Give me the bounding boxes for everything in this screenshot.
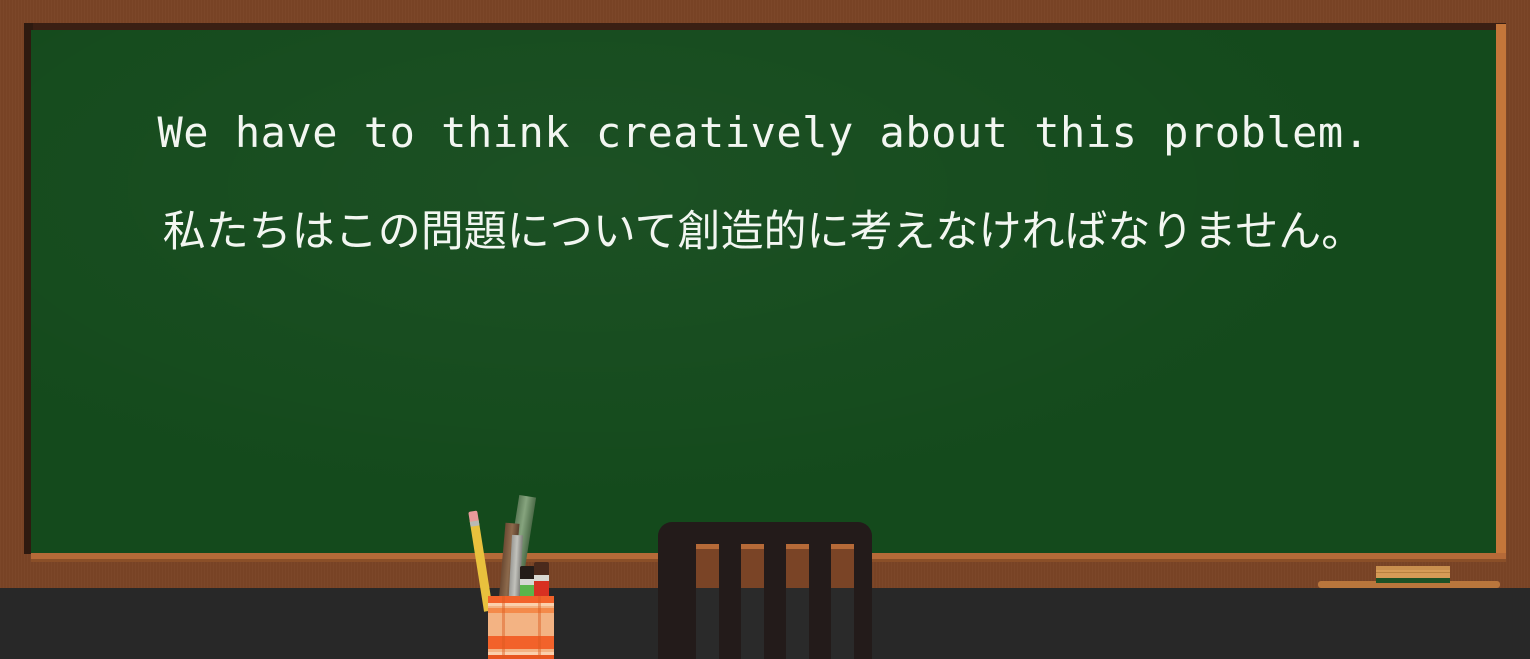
chair-slat-gap-2: [741, 544, 764, 659]
classroom-scene: We have to think creatively about this p…: [0, 0, 1530, 659]
pencil-cup-group: [470, 495, 580, 659]
board-text-english: We have to think creatively about this p…: [31, 108, 1496, 158]
chair-slat-gap-1: [696, 544, 719, 659]
chair-slat-gap-4: [831, 544, 854, 659]
chair-slat-gap-3: [786, 544, 809, 659]
pencil-ferrule: [470, 520, 480, 526]
pencil-cup: [488, 596, 554, 659]
chair: [658, 522, 872, 659]
board-right-edge-highlight: [1496, 24, 1506, 560]
marker-green-band: [520, 579, 535, 585]
marker-red-band: [534, 575, 549, 581]
chalk-eraser: [1376, 566, 1450, 583]
chalk-eraser-felt: [1376, 578, 1450, 583]
chalkboard-text: We have to think creatively about this p…: [31, 30, 1496, 260]
board-text-japanese: 私たちはこの問題について創造的に考えなければなりません。: [31, 206, 1496, 260]
